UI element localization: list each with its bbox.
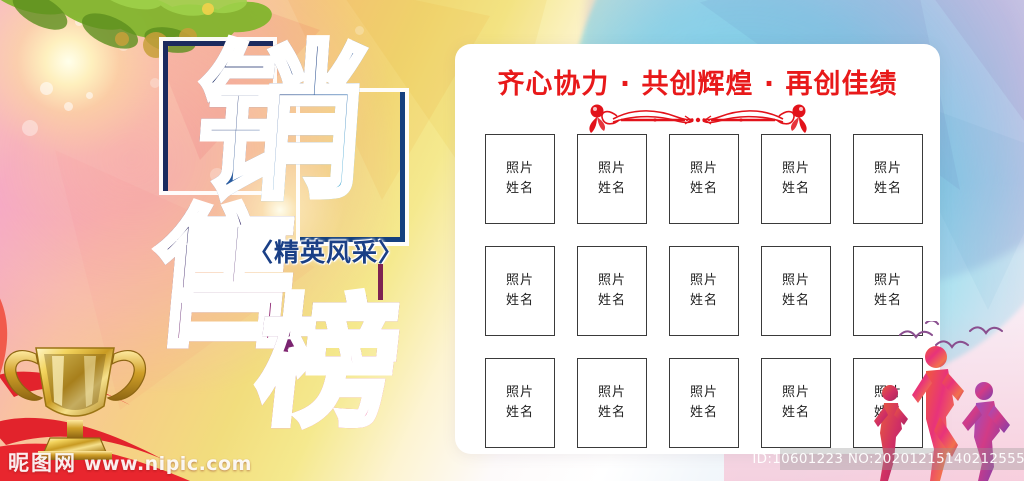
content-panel: 齐心协力 · 共创辉煌 · 再创佳绩 [455,44,940,454]
cell-photo-label: 照片 [506,273,534,289]
photo-name-cell[interactable]: 照片姓名 [853,134,923,224]
photo-name-cell[interactable]: 照片姓名 [577,246,647,336]
cell-name-label: 姓名 [598,181,626,197]
photo-name-cell[interactable]: 照片姓名 [669,358,739,448]
cell-photo-label: 照片 [782,385,810,401]
cell-photo-label: 照片 [506,161,534,177]
cell-photo-label: 照片 [782,273,810,289]
photo-name-cell[interactable]: 照片姓名 [577,134,647,224]
cell-name-label: 姓名 [598,405,626,421]
cell-name-label: 姓名 [690,181,718,197]
cell-photo-label: 照片 [506,385,534,401]
photo-name-cell[interactable]: 照片姓名 [761,246,831,336]
watermark-id-text: ID:10601223 NO:20201215140212555000 [752,451,1024,467]
photo-name-cell[interactable]: 照片姓名 [761,134,831,224]
photo-name-cell[interactable]: 照片姓名 [485,246,555,336]
photo-name-cell[interactable]: 照片姓名 [761,358,831,448]
cell-photo-label: 照片 [690,161,718,177]
cell-name-label: 姓名 [506,293,534,309]
cell-photo-label: 照片 [598,161,626,177]
cell-photo-label: 照片 [782,161,810,177]
cell-photo-label: 照片 [874,161,902,177]
photo-name-cell[interactable]: 照片姓名 [577,358,647,448]
trophy-icon [0,320,162,460]
cell-name-label: 姓名 [598,293,626,309]
cell-photo-label: 照片 [690,273,718,289]
photo-name-cell[interactable]: 照片姓名 [669,134,739,224]
cell-photo-label: 照片 [874,273,902,289]
cell-photo-label: 照片 [598,273,626,289]
cell-photo-label: 照片 [690,385,718,401]
watermark-id: ID:10601223 NO:20201215140212555000 [780,448,1024,470]
cell-name-label: 姓名 [782,405,810,421]
cell-name-label: 姓名 [690,405,718,421]
cell-name-label: 姓名 [874,293,902,309]
tick-mark-right [378,264,383,300]
cell-name-label: 姓名 [690,293,718,309]
photo-name-grid: 照片姓名照片姓名照片姓名照片姓名照片姓名照片姓名照片姓名照片姓名照片姓名照片姓名… [485,134,921,448]
title-char-bang: 榜 [251,295,406,435]
cell-photo-label: 照片 [598,385,626,401]
poster-canvas: 销 售 榜 〈精英风采〉 [0,0,1024,481]
cell-name-label: 姓名 [782,293,810,309]
title-char-xiao: 销 [190,40,370,208]
panel-title: 齐心协力 · 共创辉煌 · 再创佳绩 [455,62,940,101]
cell-name-label: 姓名 [506,181,534,197]
photo-name-cell[interactable]: 照片姓名 [485,358,555,448]
cell-name-label: 姓名 [782,181,810,197]
photo-name-cell[interactable]: 照片姓名 [485,134,555,224]
cell-name-label: 姓名 [874,181,902,197]
cell-name-label: 姓名 [506,405,534,421]
photo-name-cell[interactable]: 照片姓名 [669,246,739,336]
floral-divider-ornament [573,102,823,136]
